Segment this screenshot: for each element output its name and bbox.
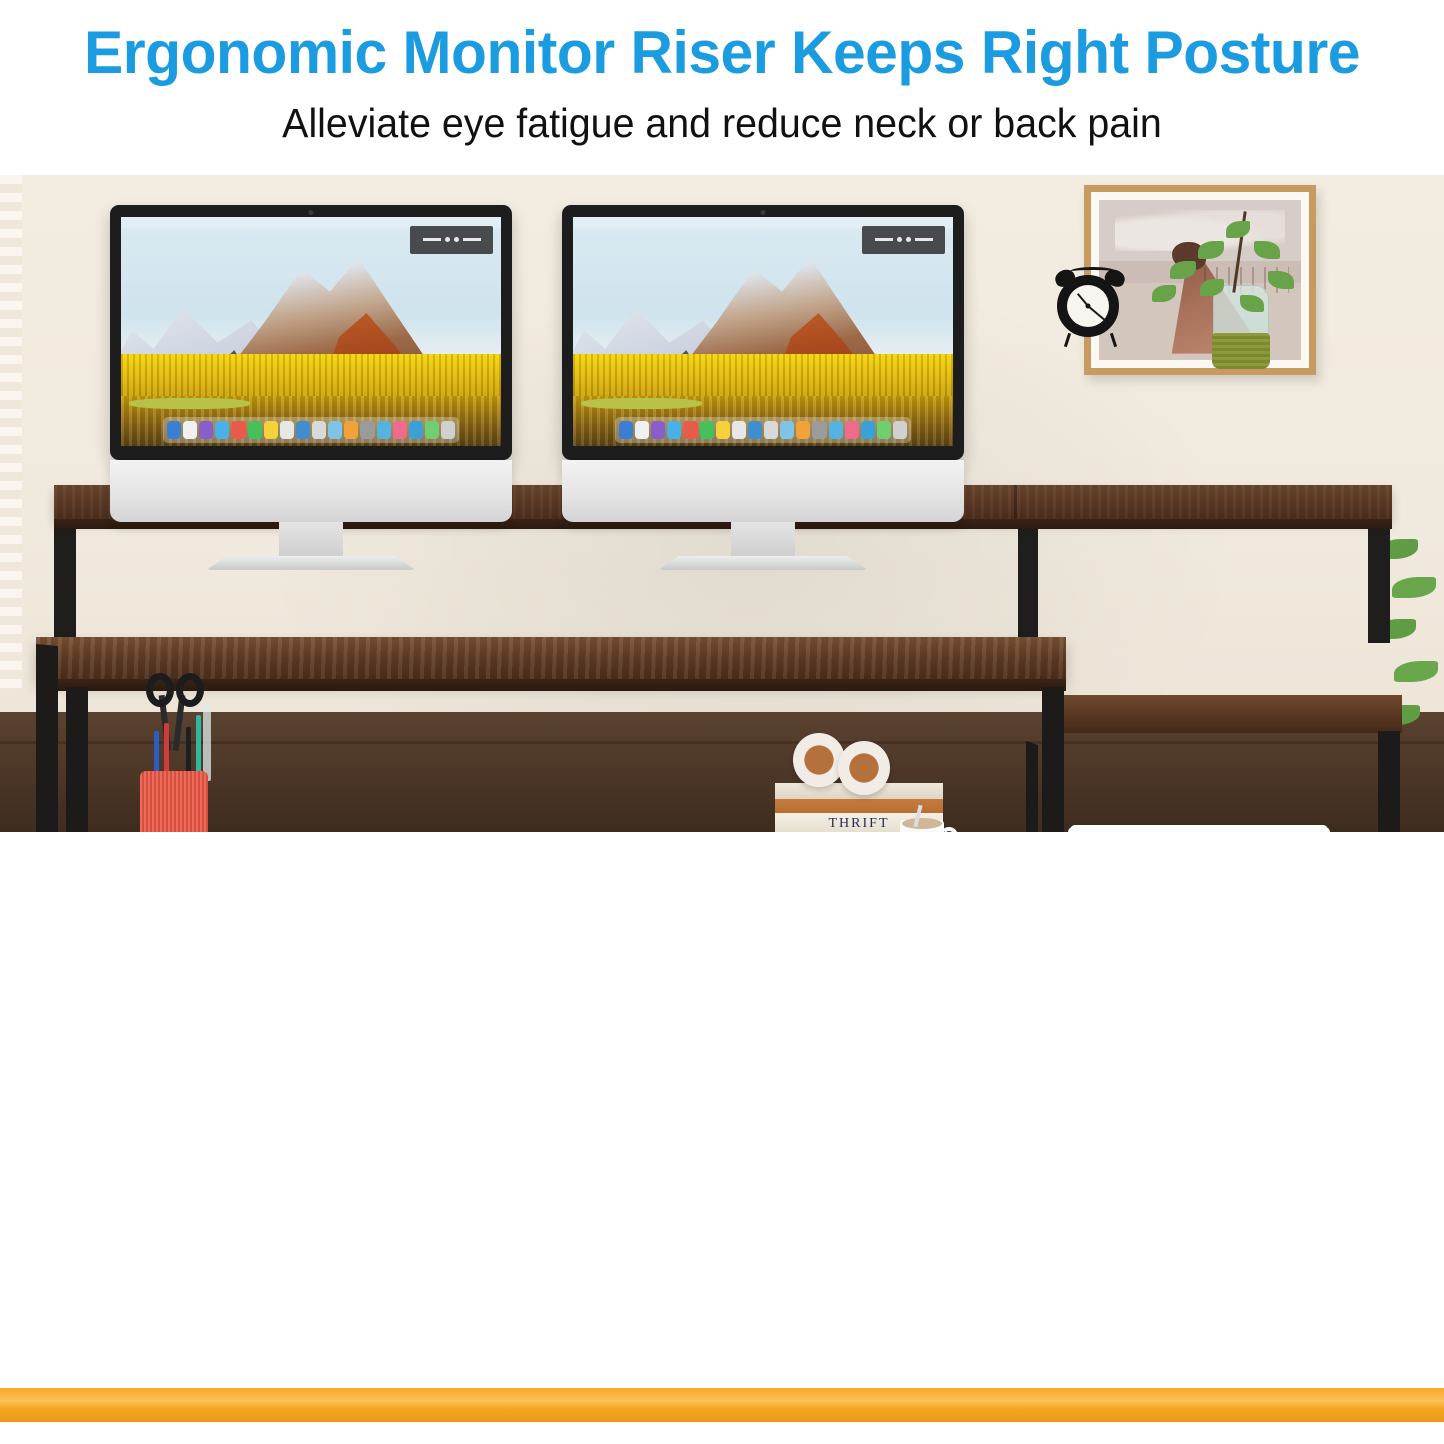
- imac-right-screen: [573, 217, 953, 446]
- pen: [196, 715, 201, 779]
- imac-right-neck: [731, 522, 795, 556]
- imac-right-bezel: [562, 205, 964, 460]
- coffee-surface: [902, 818, 942, 829]
- imac-left-neck: [279, 522, 343, 556]
- imac-right-foot: [658, 556, 868, 570]
- page-subtitle: Alleviate eye fatigue and reduce neck or…: [29, 100, 1415, 147]
- alarm-clock: [1057, 275, 1119, 337]
- pen-cup: [140, 771, 208, 832]
- desk-brace-left: [36, 740, 50, 832]
- macos-dock: [615, 417, 911, 442]
- curtain: [0, 175, 22, 695]
- clock-face: [1067, 285, 1109, 327]
- header-band: Ergonomic Monitor Riser Keeps Right Post…: [0, 0, 1444, 175]
- posture-comparison-illustration: [0, 832, 1444, 1444]
- vase-rope-wrap: [1212, 333, 1270, 369]
- scissors-ring: [146, 673, 174, 707]
- webcam-icon: [309, 210, 314, 215]
- webcam-icon: [761, 210, 766, 215]
- imac-left-bezel: [110, 205, 512, 460]
- headphone-earcup-right: [838, 741, 890, 795]
- scissors-ring: [176, 673, 204, 707]
- imac-left-foot: [206, 556, 416, 570]
- page-title: Ergonomic Monitor Riser Keeps Right Post…: [14, 18, 1429, 87]
- menubar-status-icons: [410, 226, 494, 253]
- desk-leg-right: [1378, 731, 1400, 832]
- imac-right-chin: [562, 460, 964, 522]
- desk-leg-left-front: [66, 687, 88, 832]
- menubar-status-icons: [862, 226, 946, 253]
- imac-left-chin: [110, 460, 512, 522]
- imac-left-screen: [121, 217, 501, 446]
- ruler: [203, 703, 211, 781]
- headphone-earcup-left: [793, 733, 845, 787]
- floor-bar: [0, 1388, 1444, 1422]
- desk-leg-mid: [1042, 687, 1064, 832]
- product-marketing-image: Ergonomic Monitor Riser Keeps Right Post…: [0, 0, 1444, 1444]
- desk-top-right-extension: [1062, 695, 1402, 733]
- desk-brace-mid: [1026, 741, 1038, 832]
- macos-dock: [163, 417, 459, 442]
- lifestyle-photo: THRIFT EPSON EPSON: [0, 175, 1444, 832]
- printer-lid: [1070, 825, 1328, 832]
